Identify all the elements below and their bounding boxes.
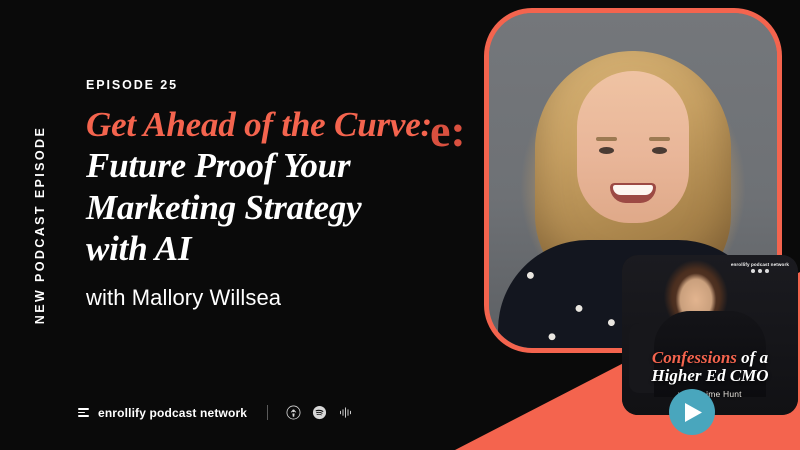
podcast-cover-tile[interactable]: enrollify podcast network Confessions of… [622, 255, 798, 415]
brand-bar: enrollify podcast network [78, 405, 353, 420]
episode-title-line-2: Future Proof Your [86, 145, 486, 186]
platform-icon-group [286, 405, 353, 420]
cover-title-part-3: Higher Ed CMO [651, 366, 768, 385]
episode-title-line-1: Get Ahead of the Curve: [86, 104, 486, 145]
episode-number-label: EPISODE 25 [86, 78, 486, 92]
network-name-label: enrollify podcast network [98, 406, 247, 420]
copy-block: EPISODE 25 Get Ahead of the Curve: Futur… [86, 78, 486, 311]
guest-host-line: with Mallory Willsea [86, 285, 486, 311]
episode-title-line-3: Marketing Strategy [86, 187, 486, 228]
cover-network-icons [731, 269, 789, 273]
cover-show-title: Confessions of a Higher Ed CMO [622, 349, 798, 385]
episode-title-line-4: with AI [86, 228, 486, 269]
enrollify-logo-icon [78, 408, 89, 417]
guest-eye-left [599, 147, 614, 154]
play-triangle-icon [685, 403, 702, 422]
cover-network-label: enrollify podcast network [731, 262, 789, 267]
guest-face [577, 71, 689, 223]
guest-brow-right [649, 137, 670, 141]
guest-brow-left [596, 137, 617, 141]
apple-podcasts-icon[interactable] [286, 405, 301, 420]
episode-title: Get Ahead of the Curve: Future Proof You… [86, 104, 486, 269]
guest-smile [610, 183, 656, 203]
brand-divider [267, 405, 268, 420]
spotify-icon[interactable] [312, 405, 327, 420]
play-button[interactable] [669, 389, 715, 435]
guest-eye-right [652, 147, 667, 154]
audio-waveform-icon[interactable] [338, 405, 353, 420]
podcast-promo-graphic: e: NEW PODCAST EPISODE EPISODE 25 Get Ah… [0, 0, 800, 450]
cover-title-part-2: of a [741, 348, 768, 367]
new-podcast-episode-label: NEW PODCAST EPISODE [33, 125, 47, 325]
cover-title-part-1: Confessions [652, 348, 737, 367]
cover-network-badge: enrollify podcast network [731, 262, 789, 273]
